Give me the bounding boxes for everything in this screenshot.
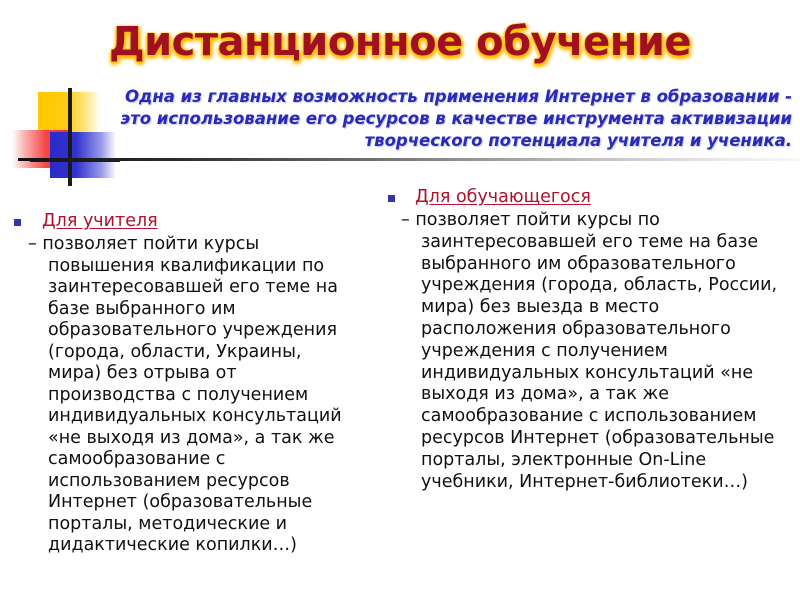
page-title: Дистанционное обучение [0, 22, 800, 62]
column-student-heading-row: Для обучающегося [388, 186, 798, 208]
column-student-heading: Для обучающегося [415, 186, 591, 208]
square-bullet-icon [14, 219, 21, 226]
column-student: Для обучающегося – позволяет пойти курсы… [388, 186, 798, 493]
column-teacher-heading: Для учителя [42, 210, 158, 232]
subtitle-text: Одна из главных возможность применения И… [116, 86, 792, 152]
vertical-bar-shape [68, 88, 72, 186]
column-student-body: – позволяет пойти курсы по заинтересовав… [388, 210, 798, 493]
blue-square-shape [50, 132, 116, 178]
slide-canvas: Дистанционное обучение Одна из главных в… [0, 0, 800, 600]
column-teacher-heading-row: Для учителя [14, 210, 352, 232]
column-teacher: Для учителя – позволяет пойти курсы повы… [14, 210, 352, 557]
square-bullet-icon [388, 195, 395, 202]
tricolor-blocks-logo [12, 88, 124, 186]
column-teacher-body: – позволяет пойти курсы повышения квалиф… [14, 234, 352, 557]
horizontal-divider [18, 158, 800, 161]
